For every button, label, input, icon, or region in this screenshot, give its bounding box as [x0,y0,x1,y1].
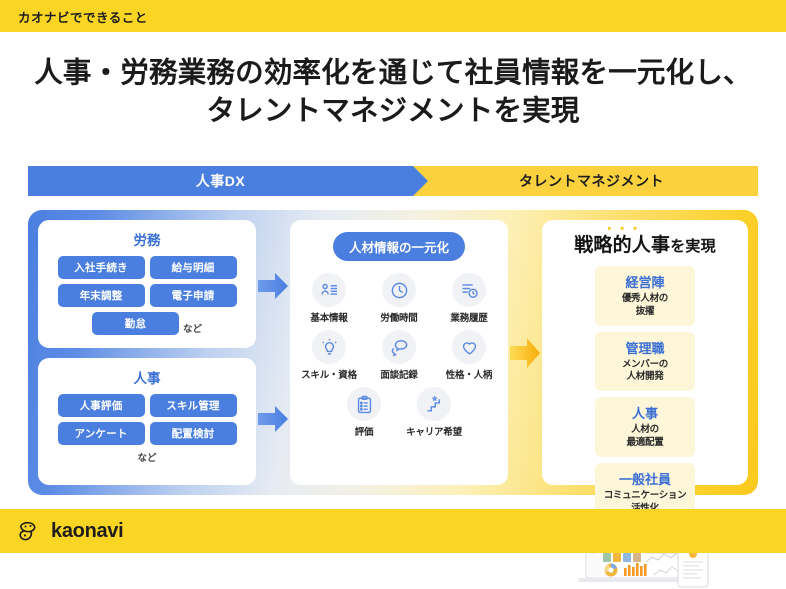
goal-card-executives-desc: 優秀人材の 抜擢 [597,293,693,319]
unified-data-pill: 人材情報の一元化 [333,232,465,261]
chip-nyuusha-tetsuzuki[interactable]: 入社手続き [58,256,145,279]
source-card-roumu-chips: 入社手続き 給与明細 年末調整 電子申請 [50,256,244,307]
blue-arrows-column [256,220,290,485]
source-card-jinji-title: 人事 [134,367,161,387]
goal-card-managers[interactable]: 管理職 メンバーの 人材開発 [595,332,695,392]
chip-skill-kanri[interactable]: スキル管理 [150,394,237,417]
chip-haichi-kentou[interactable]: 配置検討 [150,422,237,445]
headline-line-1: 人事・労務業務の効率化を通じて社員情報を一元化し、 [34,57,752,89]
data-item-interview-records[interactable]: 面談記録 [369,330,429,381]
data-item-career-goals-label: キャリア希望 [406,424,462,438]
source-card-roumu-last-row: 勤怠 など [50,312,244,335]
stairs-star-icon [417,387,451,421]
arrow-right-blue-icon-2 [258,404,288,434]
phase-talent-management-label: タレントマネジメント [519,171,664,191]
unified-data-panel: 人材情報の一元化 基本情報 労働時間 [290,220,508,485]
data-item-work-history[interactable]: 業務履歴 [439,273,499,324]
yellow-arrow-column [508,220,542,485]
chip-enquete[interactable]: アンケート [58,422,145,445]
chip-kyuuyo-meisai[interactable]: 給与明細 [150,256,237,279]
data-item-skills-label: スキル・資格 [301,367,357,381]
clipboard-check-icon [347,387,381,421]
source-card-jinji-chips: 人事評価 スキル管理 アンケート 配置検討 [50,394,244,445]
strategic-hr-title-rest: を実現 [670,238,716,255]
arrow-right-yellow-icon [510,336,540,370]
source-systems-column: 労務 入社手続き 給与明細 年末調整 電子申請 勤怠 など 人事 人事評価 スキ… [38,220,256,485]
phase-talent-management: タレントマネジメント [413,166,758,196]
unified-data-icon-grid: 基本情報 労働時間 業務履歴 [298,273,500,438]
eyebrow-label: カオナビでできること [18,7,148,26]
phase-hr-dx-label: 人事DX [196,171,245,191]
heart-icon [452,330,486,364]
kaonavi-logo-text: kaonavi [51,520,123,543]
page-title: 人事・労務業務の効率化を通じて社員情報を一元化し、 タレントマネジメントを実現 [0,54,786,131]
chip-kintai[interactable]: 勤怠 [92,312,179,335]
goal-card-executives-role: 経営陣 [597,272,693,291]
data-item-basic-info[interactable]: 基本情報 [299,273,359,324]
data-item-work-history-label: 業務履歴 [450,310,487,324]
goal-card-hr-desc: 人材の 最適配置 [597,424,693,450]
strategic-hr-title-emphasis: 戦略的人事 [574,235,670,256]
goal-card-executives[interactable]: 経営陣 優秀人材の 抜擢 [595,266,695,326]
goal-card-hr-role: 人事 [597,403,693,422]
strategic-hr-card-grid: 経営陣 優秀人材の 抜擢 管理職 メンバーの 人材開発 人事 人材の 最適配置 … [553,266,737,523]
data-item-evaluation[interactable]: 評価 [334,387,394,438]
strategic-hr-panel: 戦略的人事を実現 経営陣 優秀人材の 抜擢 管理職 メンバーの 人材開発 人事 … [542,220,748,485]
data-item-skills[interactable]: スキル・資格 [299,330,359,381]
goal-card-employees-role: 一般社員 [597,469,693,488]
history-icon [452,273,486,307]
eyebrow-bar: カオナビでできること [0,0,786,32]
data-item-personality[interactable]: 性格・人柄 [439,330,499,381]
flow-diagram: 労務 入社手続き 給与明細 年末調整 電子申請 勤怠 など 人事 人事評価 スキ… [28,210,758,495]
lightbulb-icon [312,330,346,364]
phase-hr-dx: 人事DX [28,166,413,196]
goal-card-managers-desc: メンバーの 人材開発 [597,359,693,385]
source-card-jinji-last-row: など [50,450,244,464]
data-item-evaluation-label: 評価 [355,424,374,438]
strategic-hr-title: 戦略的人事を実現 [574,230,716,257]
source-card-jinji: 人事 人事評価 スキル管理 アンケート 配置検討 など [38,358,256,486]
source-card-jinji-suffix: など [137,450,156,464]
data-item-working-hours-label: 労働時間 [380,310,417,324]
data-item-interview-records-label: 面談記録 [380,367,417,381]
data-item-basic-info-label: 基本情報 [310,310,347,324]
clock-icon [382,273,416,307]
chip-nenmatsu-chousei[interactable]: 年末調整 [58,284,145,307]
headline-line-2: タレントマネジメントを実現 [20,92,766,130]
source-card-roumu-title: 労務 [134,229,161,249]
data-item-personality-label: 性格・人柄 [446,367,493,381]
person-list-icon [312,273,346,307]
chip-jinji-hyouka[interactable]: 人事評価 [58,394,145,417]
data-item-career-goals[interactable]: キャリア希望 [404,387,464,438]
kaonavi-face-icon [18,520,44,542]
speech-bubbles-icon [382,330,416,364]
footer-bar: kaonavi [0,509,786,553]
phase-banner: 人事DX タレントマネジメント [28,166,758,196]
source-card-roumu: 労務 入社手続き 給与明細 年末調整 電子申請 勤怠 など [38,220,256,348]
goal-card-managers-role: 管理職 [597,338,693,357]
arrow-right-blue-icon [258,271,288,301]
goal-card-hr[interactable]: 人事 人材の 最適配置 [595,397,695,457]
chip-denshi-shinsei[interactable]: 電子申請 [150,284,237,307]
source-card-roumu-suffix: など [183,321,202,335]
data-item-working-hours[interactable]: 労働時間 [369,273,429,324]
